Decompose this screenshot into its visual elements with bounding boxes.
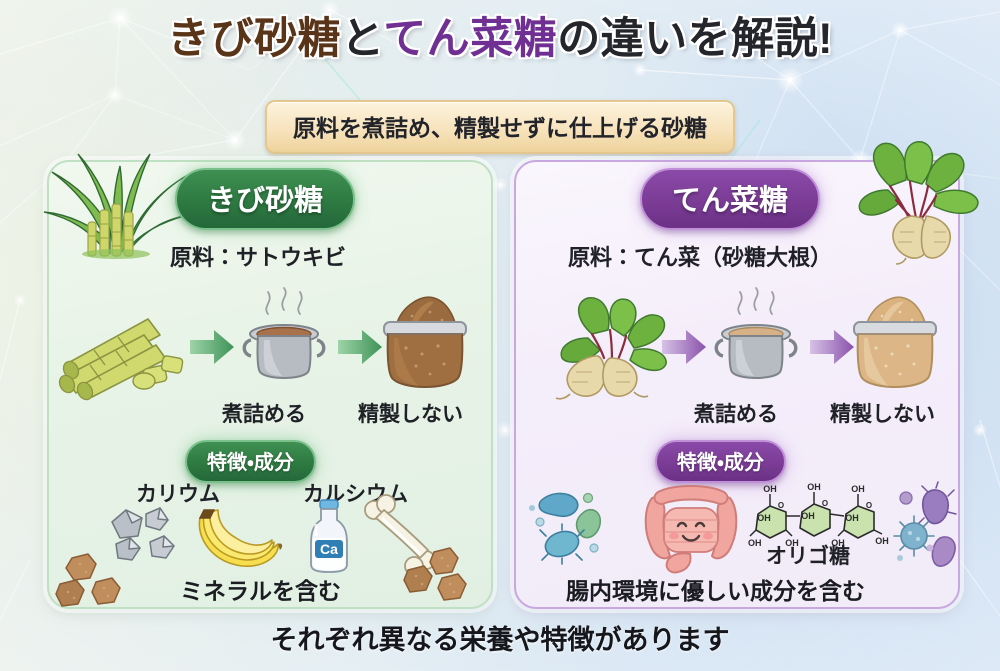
sugarcane-stalks-icon — [60, 305, 190, 395]
nutrient-label-potassium: カリウム — [136, 478, 220, 508]
molecule-oh-6: OH — [845, 513, 859, 523]
molecule-oh-4: OH — [757, 513, 771, 523]
gut-bacteria-icon-2 — [892, 486, 962, 572]
smiling-intestine-icon — [634, 482, 750, 574]
badge-beet-sugar: てん菜糖 — [640, 168, 820, 230]
badge-left-features: 特徴・成分 — [185, 440, 316, 483]
page-title: きび砂糖とてん菜糖の違いを解説! — [0, 18, 1000, 61]
subtitle-banner: 原料を煮詰め、精製せずに仕上げる砂糖 — [265, 100, 735, 154]
title-segment-tensai: てん菜糖 — [383, 15, 557, 63]
molecule-o-1: O — [778, 501, 784, 510]
brown-sugar-cubes-icon — [58, 552, 136, 608]
flow-label-right-simmer: 煮詰める — [694, 398, 778, 428]
molecule-o-2: O — [822, 499, 828, 508]
flow-label-left-simmer: 煮詰める — [222, 398, 306, 428]
title-segment-tail: の違いを解説! — [557, 15, 833, 63]
cooking-pot-icon — [232, 288, 336, 392]
badge-kibi-sugar: きび砂糖 — [175, 168, 355, 230]
summary-right: 腸内環境に優しい成分を含む — [566, 572, 865, 606]
svg-text:Ca: Ca — [320, 541, 338, 557]
cooking-pot-icon-right — [704, 288, 808, 392]
gut-bacteria-icon — [528, 486, 638, 570]
beet-sugar-container-icon — [842, 292, 946, 392]
title-segment-kibi: きび砂糖 — [167, 15, 341, 63]
title-segment-to: と — [341, 15, 383, 63]
molecule-oh-5: OH — [801, 511, 815, 521]
badge-right-features: 特徴・成分 — [655, 440, 786, 483]
source-kibi-sugar: 原料：サトウキビ — [170, 240, 346, 272]
molecule-oh-7: OH — [748, 538, 762, 548]
summary-left: ミネラルを含む — [180, 572, 341, 606]
flow-label-right-unrefined: 精製しない — [830, 398, 935, 428]
molecule-oh-3: OH — [851, 484, 865, 494]
infographic-canvas: きび砂糖とてん菜糖の違いを解説! 原料を煮詰め、精製せずに仕上げる砂糖 きび砂糖… — [0, 0, 1000, 671]
label-oligosaccharide: オリゴ糖 — [766, 540, 850, 570]
molecule-oh-1: OH — [763, 484, 777, 494]
molecule-oh-10: OH — [875, 536, 889, 546]
arrow-right-green-icon — [190, 330, 234, 364]
banana-icon — [190, 508, 286, 574]
molecule-oh-2: OH — [807, 482, 821, 492]
source-beet-sugar: 原料：てん菜（砂糖大根） — [568, 240, 832, 272]
molecule-o-3: O — [866, 501, 872, 510]
flow-label-left-unrefined: 精製しない — [358, 398, 463, 428]
calcium-milk-bottle-icon: Ca — [302, 498, 356, 574]
footer-text: それぞれ異なる栄養や特徴があります — [0, 618, 1000, 657]
arrow-right-purple-icon — [662, 330, 706, 364]
sugar-beet-icon — [534, 296, 674, 400]
sugar-beet-plant-icon — [838, 140, 990, 264]
brown-sugar-cubes-icon-2 — [398, 548, 476, 606]
brown-sugar-container-icon — [372, 292, 476, 392]
